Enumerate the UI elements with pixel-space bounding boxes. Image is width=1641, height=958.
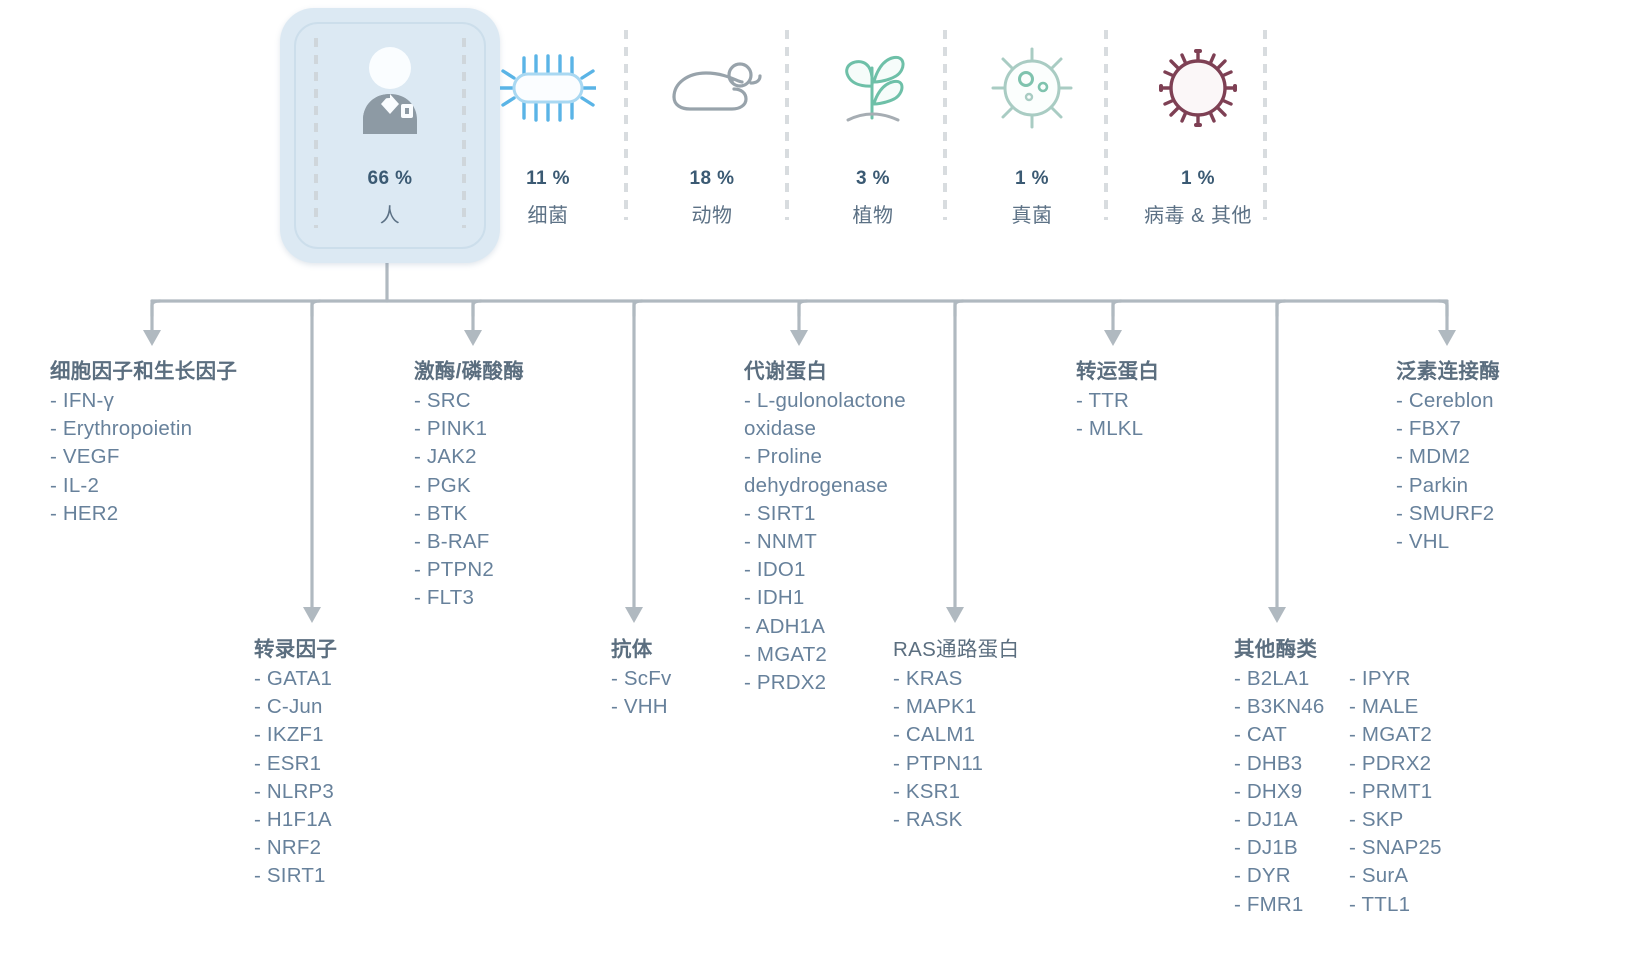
organism-fungi[interactable]: 1 % 真菌: [952, 40, 1112, 228]
list-item: - PRMT1: [1349, 778, 1442, 806]
list-item: - CAT: [1234, 721, 1349, 749]
list-item: - CALM1: [893, 721, 1019, 749]
organism-label: 动物: [632, 199, 792, 228]
list-item: - SIRT1: [744, 500, 944, 528]
category-items: - SRC - PINK1 - JAK2 - PGK - BTK - B-RAF…: [414, 387, 524, 613]
list-item: - Erythropoietin: [50, 415, 237, 443]
category-items-two-columns: - B2LA1 - B3KN46 - CAT - DHB3 - DHX9 - D…: [1234, 665, 1442, 919]
list-item: - KRAS: [893, 665, 1019, 693]
category-items: - Cereblon - FBX7 - MDM2 - Parkin - SMUR…: [1396, 387, 1500, 556]
list-item: - PINK1: [414, 415, 524, 443]
category-title: 细胞因子和生长因子: [50, 354, 237, 384]
list-item: - MLKL: [1076, 415, 1159, 443]
list-item: - DHB3: [1234, 750, 1349, 778]
category-items: - KRAS - MAPK1 - CALM1 - PTPN11 - KSR1 -…: [893, 665, 1019, 834]
list-item: - IDO1: [744, 556, 944, 584]
list-item: - Proline dehydrogenase: [744, 443, 944, 499]
bacteria-icon: [468, 40, 628, 136]
category-transcription-factors: 转录因子 - GATA1 - C-Jun - IKZF1 - ESR1 - NL…: [254, 632, 337, 891]
category-title: 泛素连接酶: [1396, 354, 1500, 384]
list-item: - MDM2: [1396, 443, 1500, 471]
list-item: - DHX9: [1234, 778, 1349, 806]
list-item: - C-Jun: [254, 693, 337, 721]
list-item: - DJ1B: [1234, 834, 1349, 862]
category-ubiquitin-ligase: 泛素连接酶 - Cereblon - FBX7 - MDM2 - Parkin …: [1396, 354, 1500, 556]
category-items: - IFN-γ - Erythropoietin - VEGF - IL-2 -…: [50, 387, 237, 528]
list-item: - NNMT: [744, 528, 944, 556]
list-item: - PGK: [414, 472, 524, 500]
mouse-icon: [632, 40, 792, 136]
list-item: - TTR: [1076, 387, 1159, 415]
organism-plant[interactable]: 3 % 植物: [793, 40, 953, 228]
category-title: 其他酶类: [1234, 632, 1442, 662]
category-items: - ScFv - VHH: [611, 665, 671, 721]
list-item: - GATA1: [254, 665, 337, 693]
category-kinase-phosphatase: 激酶/磷酸酶 - SRC - PINK1 - JAK2 - PGK - BTK …: [414, 354, 524, 613]
category-ras-pathway: RAS通路蛋白 - KRAS - MAPK1 - CALM1 - PTPN11 …: [893, 632, 1019, 834]
list-item: - DYR: [1234, 862, 1349, 890]
organism-percent: 1 %: [1118, 168, 1278, 190]
organism-animal[interactable]: 18 % 动物: [632, 40, 792, 228]
list-item: - VEGF: [50, 443, 237, 471]
organism-distribution-row: 66 % 人 11 % 细: [280, 0, 1570, 270]
organism-bacteria[interactable]: 11 % 细菌: [468, 40, 628, 228]
category-title: 抗体: [611, 632, 671, 662]
list-item: - FMR1: [1234, 891, 1349, 919]
organism-label: 真菌: [952, 199, 1112, 228]
list-item: - MGAT2: [1349, 721, 1442, 749]
list-item: - VHH: [611, 693, 671, 721]
human-icon: [310, 40, 470, 136]
list-item: - RASK: [893, 806, 1019, 834]
list-item: - VHL: [1396, 528, 1500, 556]
category-title: 激酶/磷酸酶: [414, 354, 524, 384]
fungus-icon: [952, 40, 1112, 136]
list-item: - SurA: [1349, 862, 1442, 890]
list-item: - NRF2: [254, 834, 337, 862]
list-item: - HER2: [50, 500, 237, 528]
list-item: - MAPK1: [893, 693, 1019, 721]
organism-percent: 66 %: [310, 168, 470, 190]
list-item: - JAK2: [414, 443, 524, 471]
organism-percent: 11 %: [468, 168, 628, 190]
category-title: 转录因子: [254, 632, 337, 662]
category-items: - GATA1 - C-Jun - IKZF1 - ESR1 - NLRP3 -…: [254, 665, 337, 891]
list-item: - NLRP3: [254, 778, 337, 806]
list-item: - PTPN2: [414, 556, 524, 584]
list-item: - SRC: [414, 387, 524, 415]
category-items-col2: - IPYR - MALE - MGAT2 - PDRX2 - PRMT1 - …: [1349, 665, 1442, 919]
list-item: - KSR1: [893, 778, 1019, 806]
list-item: - SMURF2: [1396, 500, 1500, 528]
list-item: - SNAP25: [1349, 834, 1442, 862]
list-item: - SKP: [1349, 806, 1442, 834]
list-item: - TTL1: [1349, 891, 1442, 919]
organism-percent: 3 %: [793, 168, 953, 190]
list-item: - ESR1: [254, 750, 337, 778]
virus-icon: [1118, 40, 1278, 136]
list-item: - FLT3: [414, 584, 524, 612]
list-item: - Parkin: [1396, 472, 1500, 500]
category-items-col1: - B2LA1 - B3KN46 - CAT - DHB3 - DHX9 - D…: [1234, 665, 1349, 919]
category-title: 转运蛋白: [1076, 354, 1159, 384]
list-item: - B2LA1: [1234, 665, 1349, 693]
plant-icon: [793, 40, 953, 136]
organism-percent: 18 %: [632, 168, 792, 190]
list-item: - IFN-γ: [50, 387, 237, 415]
organism-human[interactable]: 66 % 人: [310, 40, 470, 228]
list-item: - IDH1: [744, 584, 944, 612]
list-item: - IKZF1: [254, 721, 337, 749]
list-item: - IL-2: [50, 472, 237, 500]
organism-label: 病毒 & 其他: [1118, 199, 1278, 228]
list-item: - PDRX2: [1349, 750, 1442, 778]
category-other-enzymes: 其他酶类 - B2LA1 - B3KN46 - CAT - DHB3 - DHX…: [1234, 632, 1442, 919]
category-transport-proteins: 转运蛋白 - TTR - MLKL: [1076, 354, 1159, 443]
list-item: - IPYR: [1349, 665, 1442, 693]
list-item: - Cereblon: [1396, 387, 1500, 415]
list-item: - H1F1A: [254, 806, 337, 834]
category-cytokines: 细胞因子和生长因子 - IFN-γ - Erythropoietin - VEG…: [50, 354, 237, 528]
list-item: - BTK: [414, 500, 524, 528]
category-antibody: 抗体 - ScFv - VHH: [611, 632, 671, 721]
list-item: - B-RAF: [414, 528, 524, 556]
category-title: 代谢蛋白: [744, 354, 944, 384]
list-item: - MALE: [1349, 693, 1442, 721]
list-item: - PTPN11: [893, 750, 1019, 778]
list-item: - DJ1A: [1234, 806, 1349, 834]
organism-label: 植物: [793, 199, 953, 228]
category-title: RAS通路蛋白: [893, 632, 1019, 662]
list-item: - ScFv: [611, 665, 671, 693]
list-item: - B3KN46: [1234, 693, 1349, 721]
list-item: - SIRT1: [254, 862, 337, 890]
category-items: - TTR - MLKL: [1076, 387, 1159, 443]
organism-percent: 1 %: [952, 168, 1112, 190]
list-item: - FBX7: [1396, 415, 1500, 443]
organism-label: 细菌: [468, 199, 628, 228]
list-item: - L-gulonolactone oxidase: [744, 387, 944, 443]
organism-label: 人: [310, 199, 470, 228]
organism-virus[interactable]: 1 % 病毒 & 其他: [1118, 40, 1278, 228]
